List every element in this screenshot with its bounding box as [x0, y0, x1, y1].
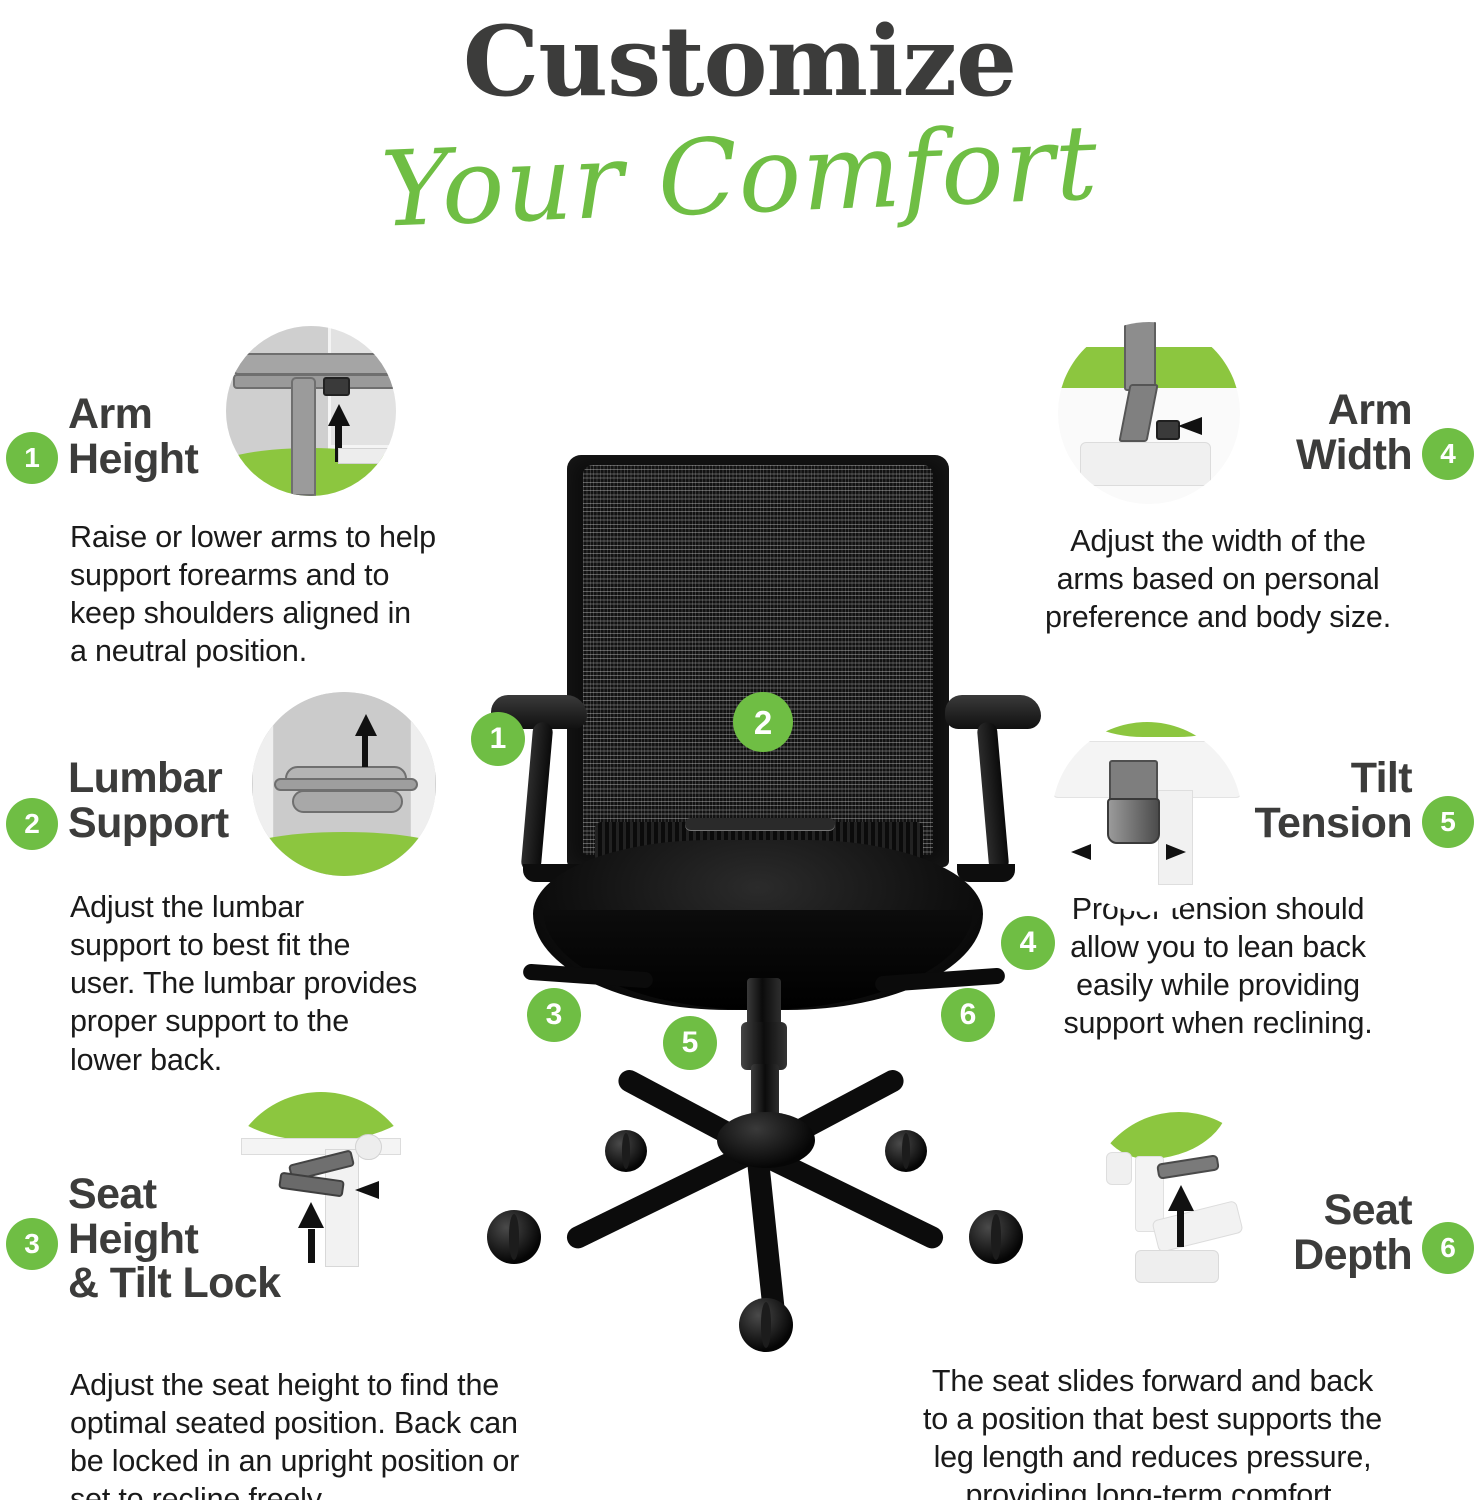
- feature-body-lumbar-support: Adjust the lumbar support to best fit th…: [70, 888, 490, 1079]
- feature-body-seat-height-tilt-lock: Adjust the seat height to find the optim…: [70, 1366, 615, 1500]
- arm-width-illustration: [1058, 322, 1240, 504]
- feature-badge-2[interactable]: 2: [6, 798, 58, 850]
- seat-height-tilt-lock-illustration: [226, 1092, 416, 1282]
- chair-caster: [487, 1210, 541, 1264]
- lumbar-support-illustration: [252, 692, 436, 876]
- feature-body-tilt-tension: Proper tension should allow you to lean …: [1018, 890, 1418, 1043]
- feature-badge-5[interactable]: 5: [1422, 796, 1474, 848]
- arm-height-illustration: [226, 326, 396, 496]
- chair-base-hub: [717, 1112, 815, 1168]
- chair-caster: [885, 1130, 927, 1172]
- tilt-tension-illustration: [1052, 722, 1242, 912]
- office-chair-photo: 1 2 3 4 5 6: [455, 440, 1075, 1370]
- page-subtitle: Your Comfort: [0, 96, 1479, 257]
- infographic-page: Customize Your Comfort: [0, 0, 1479, 1500]
- feature-badge-3[interactable]: 3: [6, 1218, 58, 1270]
- chair-cylinder-collar: [741, 1022, 787, 1070]
- feature-body-arm-width: Adjust the width of the arms based on pe…: [1018, 522, 1418, 636]
- chair-caster: [969, 1210, 1023, 1264]
- chair-arm-post-left: [521, 721, 554, 872]
- seat-depth-illustration: [1088, 1112, 1270, 1294]
- chair-caster: [605, 1130, 647, 1172]
- chair-marker-3[interactable]: 3: [527, 988, 581, 1042]
- feature-body-seat-depth: The seat slides forward and back to a po…: [880, 1362, 1425, 1500]
- page-header: Customize Your Comfort: [0, 0, 1479, 228]
- feature-badge-6[interactable]: 6: [1422, 1222, 1474, 1274]
- feature-badge-1[interactable]: 1: [6, 432, 58, 484]
- feature-body-arm-height: Raise or lower arms to help support fore…: [70, 518, 490, 671]
- chair-mesh-back: [583, 465, 933, 855]
- chair-marker-2[interactable]: 2: [733, 692, 793, 752]
- page-title: Customize: [0, 14, 1479, 110]
- chair-marker-5[interactable]: 5: [663, 1016, 717, 1070]
- chair-lumbar-slot: [685, 818, 835, 830]
- chair-marker-1[interactable]: 1: [471, 712, 525, 766]
- chair-arm-post-right: [977, 721, 1010, 872]
- chair-arm-foot-right: [957, 864, 1015, 882]
- chair-marker-6[interactable]: 6: [941, 988, 995, 1042]
- feature-badge-4[interactable]: 4: [1422, 428, 1474, 480]
- chair-caster: [739, 1298, 793, 1352]
